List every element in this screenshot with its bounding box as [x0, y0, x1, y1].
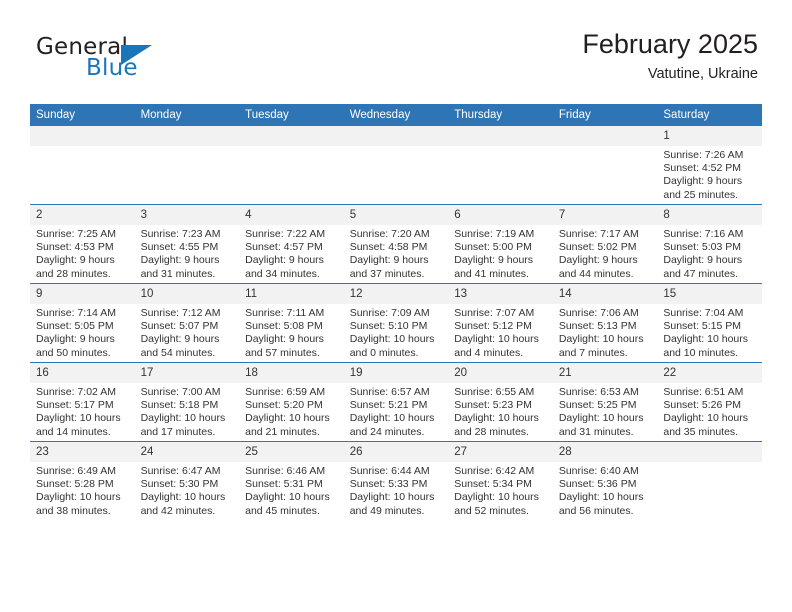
calendar-day-cell[interactable]: 28Sunrise: 6:40 AMSunset: 5:36 PMDayligh… [553, 442, 658, 521]
day-cell-inner [239, 126, 344, 204]
day-details: Sunrise: 6:40 AMSunset: 5:36 PMDaylight:… [553, 462, 658, 518]
day-details: Sunrise: 7:26 AMSunset: 4:52 PMDaylight:… [657, 146, 762, 202]
daylight-text-line1: Daylight: 9 hours [36, 333, 129, 346]
calendar-day-cell[interactable]: 17Sunrise: 7:00 AMSunset: 5:18 PMDayligh… [135, 363, 240, 442]
sunset-text: Sunset: 5:00 PM [454, 241, 547, 254]
day-details: Sunrise: 6:59 AMSunset: 5:20 PMDaylight:… [239, 383, 344, 439]
daylight-text-line1: Daylight: 10 hours [36, 412, 129, 425]
calendar-day-cell-empty [344, 126, 449, 205]
day-details: Sunrise: 7:09 AMSunset: 5:10 PMDaylight:… [344, 304, 449, 360]
day-number: 28 [553, 442, 658, 462]
daylight-text-line2: and 31 minutes. [141, 268, 234, 281]
day-cell-inner: 5Sunrise: 7:20 AMSunset: 4:58 PMDaylight… [344, 205, 449, 283]
calendar-day-cell-empty [657, 442, 762, 521]
day-cell-inner: 7Sunrise: 7:17 AMSunset: 5:02 PMDaylight… [553, 205, 658, 283]
calendar-day-cell[interactable]: 16Sunrise: 7:02 AMSunset: 5:17 PMDayligh… [30, 363, 135, 442]
daylight-text-line2: and 14 minutes. [36, 426, 129, 439]
day-number: 11 [239, 284, 344, 304]
day-cell-inner: 28Sunrise: 6:40 AMSunset: 5:36 PMDayligh… [553, 442, 658, 520]
daylight-text-line1: Daylight: 9 hours [245, 254, 338, 267]
calendar-week-row: 16Sunrise: 7:02 AMSunset: 5:17 PMDayligh… [30, 363, 762, 442]
sunrise-text: Sunrise: 7:26 AM [663, 149, 756, 162]
day-number: 23 [30, 442, 135, 462]
day-details: Sunrise: 6:53 AMSunset: 5:25 PMDaylight:… [553, 383, 658, 439]
sunrise-text: Sunrise: 6:46 AM [245, 465, 338, 478]
daylight-text-line2: and 44 minutes. [559, 268, 652, 281]
day-cell-inner: 25Sunrise: 6:46 AMSunset: 5:31 PMDayligh… [239, 442, 344, 520]
daylight-text-line1: Daylight: 10 hours [663, 333, 756, 346]
calendar-day-cell[interactable]: 21Sunrise: 6:53 AMSunset: 5:25 PMDayligh… [553, 363, 658, 442]
page-title: February 2025 [582, 28, 758, 61]
calendar-day-cell[interactable]: 13Sunrise: 7:07 AMSunset: 5:12 PMDayligh… [448, 284, 553, 363]
daylight-text-line2: and 56 minutes. [559, 505, 652, 518]
calendar-day-cell[interactable]: 7Sunrise: 7:17 AMSunset: 5:02 PMDaylight… [553, 205, 658, 284]
daylight-text-line2: and 52 minutes. [454, 505, 547, 518]
daylight-text-line1: Daylight: 9 hours [454, 254, 547, 267]
sunset-text: Sunset: 5:18 PM [141, 399, 234, 412]
sunrise-text: Sunrise: 6:47 AM [141, 465, 234, 478]
calendar-day-cell[interactable]: 25Sunrise: 6:46 AMSunset: 5:31 PMDayligh… [239, 442, 344, 521]
daylight-text-line1: Daylight: 10 hours [454, 412, 547, 425]
calendar-day-cell[interactable]: 8Sunrise: 7:16 AMSunset: 5:03 PMDaylight… [657, 205, 762, 284]
sunrise-text: Sunrise: 7:25 AM [36, 228, 129, 241]
daylight-text-line2: and 45 minutes. [245, 505, 338, 518]
daylight-text-line1: Daylight: 10 hours [559, 491, 652, 504]
day-cell-inner: 10Sunrise: 7:12 AMSunset: 5:07 PMDayligh… [135, 284, 240, 362]
calendar-day-cell[interactable]: 23Sunrise: 6:49 AMSunset: 5:28 PMDayligh… [30, 442, 135, 521]
day-details: Sunrise: 7:14 AMSunset: 5:05 PMDaylight:… [30, 304, 135, 360]
day-number: 20 [448, 363, 553, 383]
sunset-text: Sunset: 5:15 PM [663, 320, 756, 333]
sunset-text: Sunset: 5:02 PM [559, 241, 652, 254]
calendar-day-cell[interactable]: 9Sunrise: 7:14 AMSunset: 5:05 PMDaylight… [30, 284, 135, 363]
day-details: Sunrise: 7:19 AMSunset: 5:00 PMDaylight:… [448, 225, 553, 281]
calendar-day-cell[interactable]: 19Sunrise: 6:57 AMSunset: 5:21 PMDayligh… [344, 363, 449, 442]
sunrise-text: Sunrise: 7:22 AM [245, 228, 338, 241]
daylight-text-line2: and 47 minutes. [663, 268, 756, 281]
day-number: 18 [239, 363, 344, 383]
day-number [30, 126, 135, 146]
day-details: Sunrise: 6:44 AMSunset: 5:33 PMDaylight:… [344, 462, 449, 518]
day-details: Sunrise: 7:04 AMSunset: 5:15 PMDaylight:… [657, 304, 762, 360]
weekday-header-wednesday: Wednesday [344, 104, 449, 126]
day-cell-inner [553, 126, 658, 204]
day-number: 2 [30, 205, 135, 225]
calendar-day-cell-empty [448, 126, 553, 205]
sunset-text: Sunset: 4:55 PM [141, 241, 234, 254]
sunrise-text: Sunrise: 6:51 AM [663, 386, 756, 399]
sunrise-text: Sunrise: 7:19 AM [454, 228, 547, 241]
day-cell-inner [344, 126, 449, 204]
day-cell-inner: 24Sunrise: 6:47 AMSunset: 5:30 PMDayligh… [135, 442, 240, 520]
day-cell-inner: 8Sunrise: 7:16 AMSunset: 5:03 PMDaylight… [657, 205, 762, 283]
day-number [448, 126, 553, 146]
day-cell-inner: 17Sunrise: 7:00 AMSunset: 5:18 PMDayligh… [135, 363, 240, 441]
sunrise-text: Sunrise: 7:06 AM [559, 307, 652, 320]
day-cell-inner: 16Sunrise: 7:02 AMSunset: 5:17 PMDayligh… [30, 363, 135, 441]
sunset-text: Sunset: 4:52 PM [663, 162, 756, 175]
sunrise-text: Sunrise: 7:11 AM [245, 307, 338, 320]
day-cell-inner: 12Sunrise: 7:09 AMSunset: 5:10 PMDayligh… [344, 284, 449, 362]
day-number: 12 [344, 284, 449, 304]
sunrise-text: Sunrise: 6:59 AM [245, 386, 338, 399]
calendar-week-row: 1Sunrise: 7:26 AMSunset: 4:52 PMDaylight… [30, 126, 762, 205]
day-cell-inner: 15Sunrise: 7:04 AMSunset: 5:15 PMDayligh… [657, 284, 762, 362]
day-cell-inner: 27Sunrise: 6:42 AMSunset: 5:34 PMDayligh… [448, 442, 553, 520]
daylight-text-line1: Daylight: 9 hours [559, 254, 652, 267]
day-details: Sunrise: 7:00 AMSunset: 5:18 PMDaylight:… [135, 383, 240, 439]
sunset-text: Sunset: 5:20 PM [245, 399, 338, 412]
day-cell-inner: 11Sunrise: 7:11 AMSunset: 5:08 PMDayligh… [239, 284, 344, 362]
day-details: Sunrise: 7:12 AMSunset: 5:07 PMDaylight:… [135, 304, 240, 360]
sunrise-text: Sunrise: 7:14 AM [36, 307, 129, 320]
day-number: 7 [553, 205, 658, 225]
weekday-header-saturday: Saturday [657, 104, 762, 126]
sunrise-text: Sunrise: 6:55 AM [454, 386, 547, 399]
day-cell-inner: 18Sunrise: 6:59 AMSunset: 5:20 PMDayligh… [239, 363, 344, 441]
day-cell-inner: 23Sunrise: 6:49 AMSunset: 5:28 PMDayligh… [30, 442, 135, 520]
sunset-text: Sunset: 5:17 PM [36, 399, 129, 412]
daylight-text-line2: and 38 minutes. [36, 505, 129, 518]
daylight-text-line2: and 24 minutes. [350, 426, 443, 439]
sunset-text: Sunset: 5:05 PM [36, 320, 129, 333]
calendar-day-cell[interactable]: 12Sunrise: 7:09 AMSunset: 5:10 PMDayligh… [344, 284, 449, 363]
sunset-text: Sunset: 5:10 PM [350, 320, 443, 333]
daylight-text-line2: and 10 minutes. [663, 347, 756, 360]
day-cell-inner: 19Sunrise: 6:57 AMSunset: 5:21 PMDayligh… [344, 363, 449, 441]
daylight-text-line1: Daylight: 10 hours [559, 333, 652, 346]
day-number: 1 [657, 126, 762, 146]
sunset-text: Sunset: 5:21 PM [350, 399, 443, 412]
day-number [239, 126, 344, 146]
day-details: Sunrise: 7:07 AMSunset: 5:12 PMDaylight:… [448, 304, 553, 360]
daylight-text-line2: and 54 minutes. [141, 347, 234, 360]
day-cell-inner [448, 126, 553, 204]
day-number: 8 [657, 205, 762, 225]
sunrise-text: Sunrise: 6:44 AM [350, 465, 443, 478]
day-details: Sunrise: 7:02 AMSunset: 5:17 PMDaylight:… [30, 383, 135, 439]
logo-text-blue: Blue [86, 55, 138, 81]
weekday-header-monday: Monday [135, 104, 240, 126]
day-number: 9 [30, 284, 135, 304]
calendar-day-cell-empty [239, 126, 344, 205]
sunrise-text: Sunrise: 7:07 AM [454, 307, 547, 320]
daylight-text-line2: and 17 minutes. [141, 426, 234, 439]
daylight-text-line1: Daylight: 10 hours [141, 412, 234, 425]
calendar-day-cell[interactable]: 3Sunrise: 7:23 AMSunset: 4:55 PMDaylight… [135, 205, 240, 284]
day-number: 3 [135, 205, 240, 225]
calendar-day-cell[interactable]: 6Sunrise: 7:19 AMSunset: 5:00 PMDaylight… [448, 205, 553, 284]
day-number: 6 [448, 205, 553, 225]
sunrise-text: Sunrise: 7:20 AM [350, 228, 443, 241]
daylight-text-line1: Daylight: 10 hours [663, 412, 756, 425]
day-number: 19 [344, 363, 449, 383]
sunrise-text: Sunrise: 6:49 AM [36, 465, 129, 478]
day-number: 26 [344, 442, 449, 462]
day-number: 4 [239, 205, 344, 225]
day-details: Sunrise: 6:46 AMSunset: 5:31 PMDaylight:… [239, 462, 344, 518]
calendar-day-cell[interactable]: 20Sunrise: 6:55 AMSunset: 5:23 PMDayligh… [448, 363, 553, 442]
calendar-day-cell-empty [135, 126, 240, 205]
sunset-text: Sunset: 5:13 PM [559, 320, 652, 333]
day-cell-inner [657, 442, 762, 520]
sunrise-text: Sunrise: 6:57 AM [350, 386, 443, 399]
weekday-header-tuesday: Tuesday [239, 104, 344, 126]
daylight-text-line1: Daylight: 10 hours [245, 412, 338, 425]
day-number: 24 [135, 442, 240, 462]
day-number [344, 126, 449, 146]
daylight-text-line1: Daylight: 10 hours [454, 333, 547, 346]
calendar-body: 1Sunrise: 7:26 AMSunset: 4:52 PMDaylight… [30, 126, 762, 520]
day-details: Sunrise: 7:11 AMSunset: 5:08 PMDaylight:… [239, 304, 344, 360]
calendar-day-cell[interactable]: 1Sunrise: 7:26 AMSunset: 4:52 PMDaylight… [657, 126, 762, 205]
sunrise-text: Sunrise: 7:17 AM [559, 228, 652, 241]
day-number: 14 [553, 284, 658, 304]
sunset-text: Sunset: 5:25 PM [559, 399, 652, 412]
day-cell-inner: 14Sunrise: 7:06 AMSunset: 5:13 PMDayligh… [553, 284, 658, 362]
calendar-day-cell[interactable]: 2Sunrise: 7:25 AMSunset: 4:53 PMDaylight… [30, 205, 135, 284]
calendar-week-row: 9Sunrise: 7:14 AMSunset: 5:05 PMDaylight… [30, 284, 762, 363]
sunset-text: Sunset: 5:36 PM [559, 478, 652, 491]
daylight-text-line2: and 41 minutes. [454, 268, 547, 281]
calendar-day-cell[interactable]: 11Sunrise: 7:11 AMSunset: 5:08 PMDayligh… [239, 284, 344, 363]
day-details: Sunrise: 6:42 AMSunset: 5:34 PMDaylight:… [448, 462, 553, 518]
sunrise-text: Sunrise: 7:23 AM [141, 228, 234, 241]
day-details: Sunrise: 6:47 AMSunset: 5:30 PMDaylight:… [135, 462, 240, 518]
day-details: Sunrise: 6:55 AMSunset: 5:23 PMDaylight:… [448, 383, 553, 439]
sunrise-text: Sunrise: 7:12 AM [141, 307, 234, 320]
day-details: Sunrise: 7:22 AMSunset: 4:57 PMDaylight:… [239, 225, 344, 281]
sunrise-text: Sunrise: 6:40 AM [559, 465, 652, 478]
day-number [553, 126, 658, 146]
daylight-text-line1: Daylight: 9 hours [663, 254, 756, 267]
calendar-day-cell[interactable]: 5Sunrise: 7:20 AMSunset: 4:58 PMDaylight… [344, 205, 449, 284]
day-details: Sunrise: 7:25 AMSunset: 4:53 PMDaylight:… [30, 225, 135, 281]
sunset-text: Sunset: 5:30 PM [141, 478, 234, 491]
sunrise-text: Sunrise: 6:42 AM [454, 465, 547, 478]
calendar-day-cell-empty [553, 126, 658, 205]
calendar-week-row: 2Sunrise: 7:25 AMSunset: 4:53 PMDaylight… [30, 205, 762, 284]
sunset-text: Sunset: 5:26 PM [663, 399, 756, 412]
sunset-text: Sunset: 5:31 PM [245, 478, 338, 491]
day-number: 22 [657, 363, 762, 383]
sunset-text: Sunset: 5:07 PM [141, 320, 234, 333]
daylight-text-line1: Daylight: 10 hours [36, 491, 129, 504]
sunrise-text: Sunrise: 6:53 AM [559, 386, 652, 399]
day-number: 27 [448, 442, 553, 462]
day-details: Sunrise: 6:51 AMSunset: 5:26 PMDaylight:… [657, 383, 762, 439]
daylight-text-line2: and 34 minutes. [245, 268, 338, 281]
daylight-text-line1: Daylight: 9 hours [141, 333, 234, 346]
day-number: 10 [135, 284, 240, 304]
calendar-table: Sunday Monday Tuesday Wednesday Thursday… [30, 104, 762, 520]
day-details: Sunrise: 7:23 AMSunset: 4:55 PMDaylight:… [135, 225, 240, 281]
daylight-text-line2: and 57 minutes. [245, 347, 338, 360]
day-number: 13 [448, 284, 553, 304]
sunset-text: Sunset: 4:58 PM [350, 241, 443, 254]
calendar-day-cell[interactable]: 22Sunrise: 6:51 AMSunset: 5:26 PMDayligh… [657, 363, 762, 442]
daylight-text-line2: and 0 minutes. [350, 347, 443, 360]
day-details: Sunrise: 6:49 AMSunset: 5:28 PMDaylight:… [30, 462, 135, 518]
daylight-text-line1: Daylight: 10 hours [454, 491, 547, 504]
calendar-day-cell[interactable]: 15Sunrise: 7:04 AMSunset: 5:15 PMDayligh… [657, 284, 762, 363]
sunset-text: Sunset: 5:08 PM [245, 320, 338, 333]
day-cell-inner: 20Sunrise: 6:55 AMSunset: 5:23 PMDayligh… [448, 363, 553, 441]
sunset-text: Sunset: 5:12 PM [454, 320, 547, 333]
sunset-text: Sunset: 5:33 PM [350, 478, 443, 491]
title-block: February 2025 Vatutine, Ukraine [582, 28, 758, 85]
daylight-text-line2: and 37 minutes. [350, 268, 443, 281]
day-number: 17 [135, 363, 240, 383]
day-details: Sunrise: 7:20 AMSunset: 4:58 PMDaylight:… [344, 225, 449, 281]
day-cell-inner [30, 126, 135, 204]
daylight-text-line1: Daylight: 10 hours [350, 412, 443, 425]
sunrise-text: Sunrise: 7:16 AM [663, 228, 756, 241]
day-cell-inner: 13Sunrise: 7:07 AMSunset: 5:12 PMDayligh… [448, 284, 553, 362]
calendar-day-cell[interactable]: 4Sunrise: 7:22 AMSunset: 4:57 PMDaylight… [239, 205, 344, 284]
day-cell-inner: 3Sunrise: 7:23 AMSunset: 4:55 PMDaylight… [135, 205, 240, 283]
daylight-text-line1: Daylight: 9 hours [141, 254, 234, 267]
daylight-text-line2: and 28 minutes. [36, 268, 129, 281]
sunset-text: Sunset: 5:34 PM [454, 478, 547, 491]
day-details: Sunrise: 7:06 AMSunset: 5:13 PMDaylight:… [553, 304, 658, 360]
day-details: Sunrise: 7:17 AMSunset: 5:02 PMDaylight:… [553, 225, 658, 281]
daylight-text-line1: Daylight: 9 hours [36, 254, 129, 267]
calendar-day-cell[interactable]: 14Sunrise: 7:06 AMSunset: 5:13 PMDayligh… [553, 284, 658, 363]
day-number [135, 126, 240, 146]
daylight-text-line1: Daylight: 10 hours [141, 491, 234, 504]
weekday-header-thursday: Thursday [448, 104, 553, 126]
daylight-text-line1: Daylight: 9 hours [245, 333, 338, 346]
daylight-text-line2: and 4 minutes. [454, 347, 547, 360]
calendar-page: General Blue February 2025 Vatutine, Ukr… [0, 0, 792, 612]
calendar-day-cell[interactable]: 18Sunrise: 6:59 AMSunset: 5:20 PMDayligh… [239, 363, 344, 442]
sunrise-text: Sunrise: 7:00 AM [141, 386, 234, 399]
day-cell-inner: 1Sunrise: 7:26 AMSunset: 4:52 PMDaylight… [657, 126, 762, 204]
day-number [657, 442, 762, 462]
daylight-text-line2: and 21 minutes. [245, 426, 338, 439]
day-cell-inner: 4Sunrise: 7:22 AMSunset: 4:57 PMDaylight… [239, 205, 344, 283]
location-subtitle: Vatutine, Ukraine [582, 63, 758, 85]
day-cell-inner: 26Sunrise: 6:44 AMSunset: 5:33 PMDayligh… [344, 442, 449, 520]
calendar-day-cell-empty [30, 126, 135, 205]
daylight-text-line1: Daylight: 10 hours [350, 491, 443, 504]
calendar-day-cell[interactable]: 27Sunrise: 6:42 AMSunset: 5:34 PMDayligh… [448, 442, 553, 521]
weekday-header-row: Sunday Monday Tuesday Wednesday Thursday… [30, 104, 762, 126]
daylight-text-line2: and 7 minutes. [559, 347, 652, 360]
page-header: General Blue February 2025 Vatutine, Ukr… [34, 28, 758, 98]
calendar-day-cell[interactable]: 26Sunrise: 6:44 AMSunset: 5:33 PMDayligh… [344, 442, 449, 521]
day-details: Sunrise: 6:57 AMSunset: 5:21 PMDaylight:… [344, 383, 449, 439]
sunrise-text: Sunrise: 7:04 AM [663, 307, 756, 320]
day-number: 25 [239, 442, 344, 462]
day-cell-inner: 6Sunrise: 7:19 AMSunset: 5:00 PMDaylight… [448, 205, 553, 283]
weekday-header-friday: Friday [553, 104, 658, 126]
daylight-text-line1: Daylight: 10 hours [350, 333, 443, 346]
sunset-text: Sunset: 5:03 PM [663, 241, 756, 254]
day-cell-inner: 22Sunrise: 6:51 AMSunset: 5:26 PMDayligh… [657, 363, 762, 441]
day-cell-inner: 9Sunrise: 7:14 AMSunset: 5:05 PMDaylight… [30, 284, 135, 362]
daylight-text-line2: and 50 minutes. [36, 347, 129, 360]
sunset-text: Sunset: 4:57 PM [245, 241, 338, 254]
sunrise-text: Sunrise: 7:09 AM [350, 307, 443, 320]
daylight-text-line1: Daylight: 9 hours [663, 175, 756, 188]
day-number: 15 [657, 284, 762, 304]
daylight-text-line2: and 25 minutes. [663, 189, 756, 202]
day-number: 5 [344, 205, 449, 225]
sunset-text: Sunset: 5:28 PM [36, 478, 129, 491]
daylight-text-line2: and 42 minutes. [141, 505, 234, 518]
daylight-text-line2: and 31 minutes. [559, 426, 652, 439]
general-blue-logo[interactable]: General Blue [34, 34, 244, 92]
daylight-text-line2: and 28 minutes. [454, 426, 547, 439]
sunrise-text: Sunrise: 7:02 AM [36, 386, 129, 399]
sunset-text: Sunset: 5:23 PM [454, 399, 547, 412]
daylight-text-line2: and 35 minutes. [663, 426, 756, 439]
day-cell-inner [135, 126, 240, 204]
day-number: 21 [553, 363, 658, 383]
weekday-header-sunday: Sunday [30, 104, 135, 126]
daylight-text-line2: and 49 minutes. [350, 505, 443, 518]
sunset-text: Sunset: 4:53 PM [36, 241, 129, 254]
daylight-text-line1: Daylight: 10 hours [559, 412, 652, 425]
day-details: Sunrise: 7:16 AMSunset: 5:03 PMDaylight:… [657, 225, 762, 281]
daylight-text-line1: Daylight: 9 hours [350, 254, 443, 267]
calendar-day-cell[interactable]: 10Sunrise: 7:12 AMSunset: 5:07 PMDayligh… [135, 284, 240, 363]
day-cell-inner: 21Sunrise: 6:53 AMSunset: 5:25 PMDayligh… [553, 363, 658, 441]
calendar-day-cell[interactable]: 24Sunrise: 6:47 AMSunset: 5:30 PMDayligh… [135, 442, 240, 521]
daylight-text-line1: Daylight: 10 hours [245, 491, 338, 504]
day-cell-inner: 2Sunrise: 7:25 AMSunset: 4:53 PMDaylight… [30, 205, 135, 283]
day-number: 16 [30, 363, 135, 383]
calendar-week-row: 23Sunrise: 6:49 AMSunset: 5:28 PMDayligh… [30, 442, 762, 521]
